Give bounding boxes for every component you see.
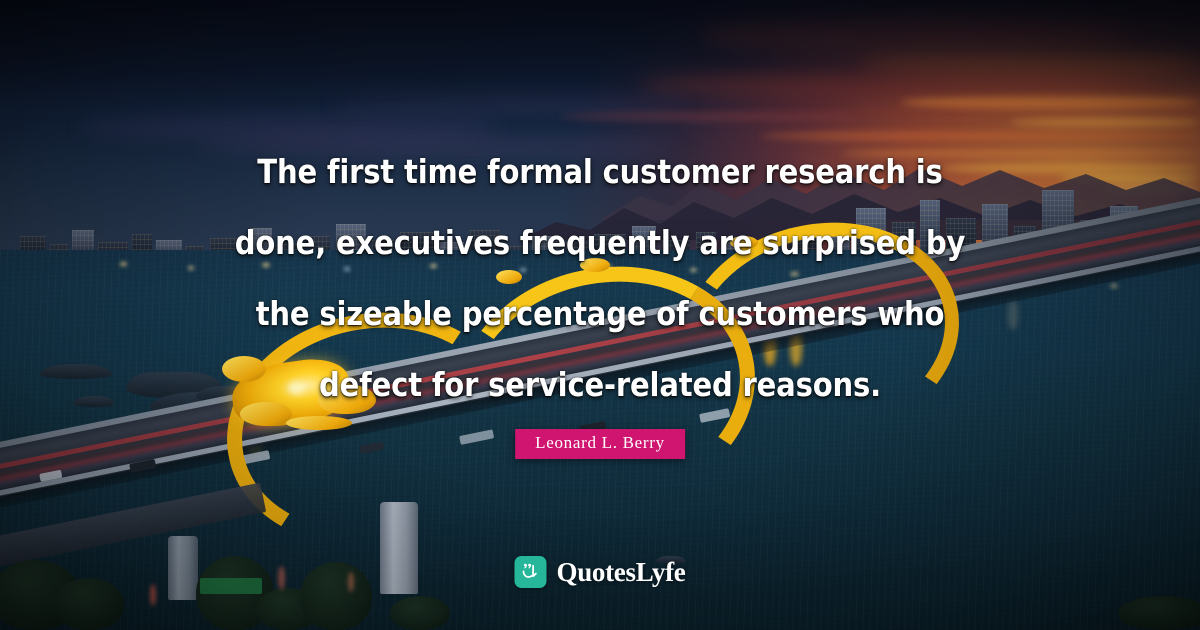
quote-line: defect for service-related reasons. bbox=[186, 349, 1013, 420]
quote-line: the sizeable percentage of customers who bbox=[186, 278, 1013, 349]
quote-line: The first time formal customer research … bbox=[186, 136, 1013, 207]
quote-mark-icon bbox=[515, 556, 547, 588]
quote-poster: The first time formal customer research … bbox=[0, 0, 1200, 630]
quote-text: The first time formal customer research … bbox=[0, 136, 1200, 420]
brand-name: QuotesLyfe bbox=[557, 557, 686, 588]
author-badge: Leonard L. Berry bbox=[515, 429, 685, 459]
quote-line: done, executives frequently are surprise… bbox=[186, 207, 1013, 278]
poster-content: The first time formal customer research … bbox=[0, 0, 1200, 630]
brand-logo[interactable]: QuotesLyfe bbox=[515, 556, 686, 588]
